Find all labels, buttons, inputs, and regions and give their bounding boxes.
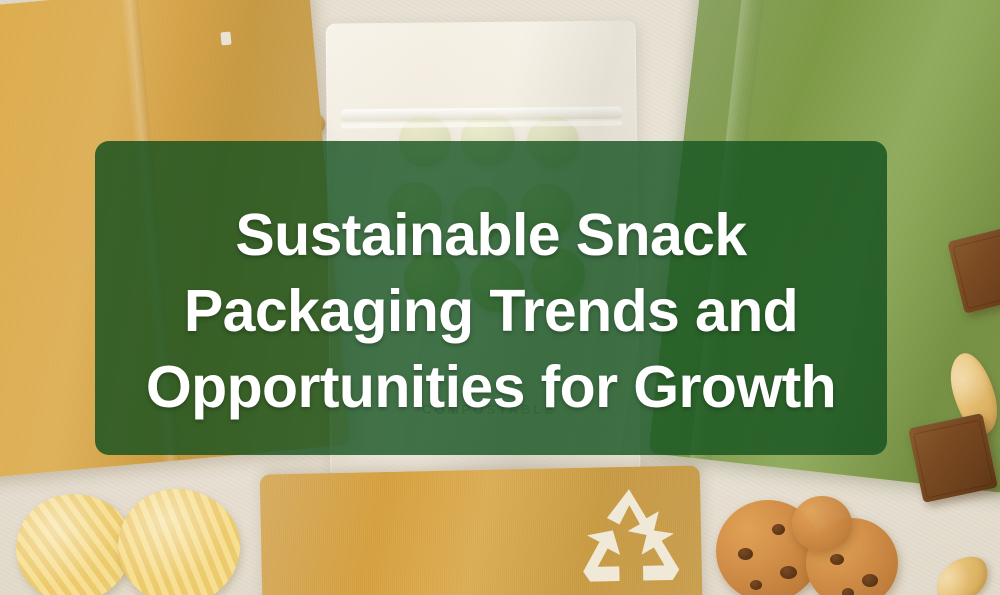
title-overlay-card: Sustainable Snack Packaging Trends and O… xyxy=(95,141,887,455)
title-block: Sustainable Snack Packaging Trends and O… xyxy=(95,141,887,455)
title-line-3: Opportunities for Growth xyxy=(146,349,836,425)
hero-banner: COMPOSTABLE xyxy=(0,0,1000,595)
tear-notch-icon xyxy=(220,32,231,46)
title-line-1: Sustainable Snack xyxy=(235,197,746,273)
title-line-2: Packaging Trends and xyxy=(184,273,798,349)
chocolate-square xyxy=(908,413,998,503)
recycle-icon xyxy=(571,486,689,592)
chocolate-chip-cookie xyxy=(792,496,852,552)
